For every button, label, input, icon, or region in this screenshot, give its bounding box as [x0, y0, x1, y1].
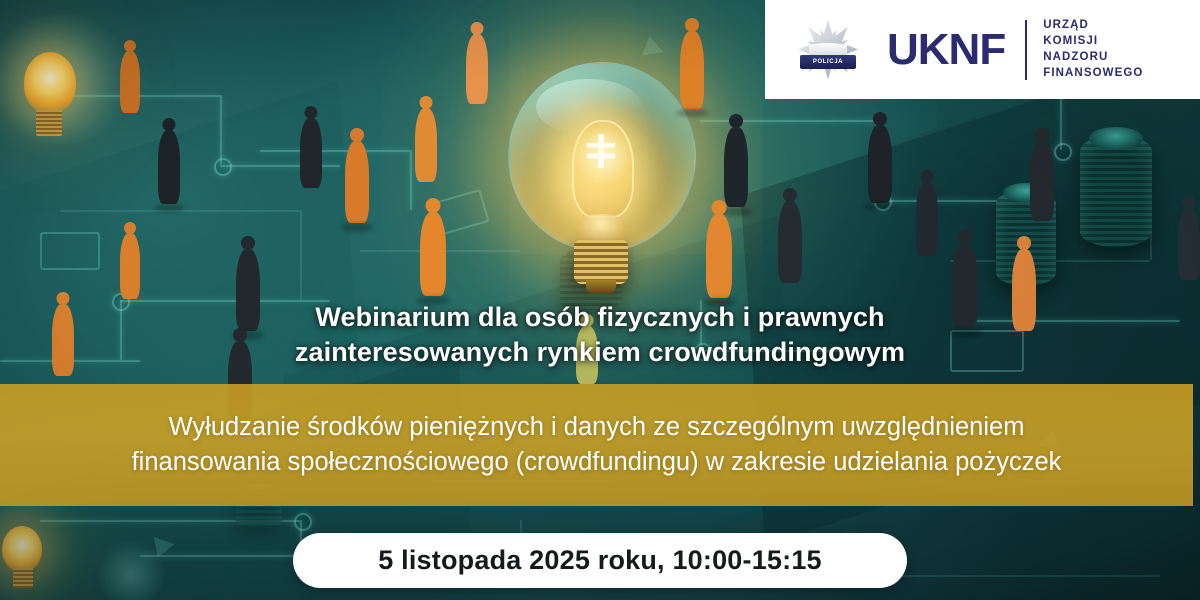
uknf-subtitle-line-4: FINANSOWEGO — [1043, 67, 1143, 80]
webinar-banner: POLICJA UKNF URZĄD KOMISJI NADZORU FINAN… — [0, 0, 1200, 600]
banner-title: Webinarium dla osób fizycznych i prawnyc… — [0, 300, 1200, 370]
uknf-subtitle-line-3: NADZORU — [1043, 51, 1143, 64]
banner-subtitle-line-1: Wyłudzanie środków pieniężnych i danych … — [16, 410, 1177, 445]
logo-divider — [1025, 20, 1027, 80]
uknf-subtitle-line-2: KOMISJI — [1043, 35, 1143, 48]
banner-title-line-2: zainteresowanych rynkiem crowdfundingowy… — [60, 335, 1140, 370]
banner-subtitle-line-2: finansowania społecznościowego (crowdfun… — [16, 445, 1177, 480]
uknf-subtitle-line-1: URZĄD — [1043, 19, 1143, 32]
date-pill: 5 listopada 2025 roku, 10:00-15:15 — [293, 533, 907, 588]
banner-subtitle: Wyłudzanie środków pieniężnych i danych … — [0, 410, 1193, 480]
banner-title-line-1: Webinarium dla osób fizycznych i prawnyc… — [60, 300, 1140, 335]
policja-badge-label: POLICJA — [813, 59, 843, 65]
uknf-wordmark: UKNF — [887, 28, 1005, 72]
subtitle-band: Wyłudzanie środków pieniężnych i danych … — [0, 384, 1193, 506]
uknf-subtitle: URZĄD KOMISJI NADZORU FINANSOWEGO — [1043, 19, 1143, 80]
date-text: 5 listopada 2025 roku, 10:00-15:15 — [378, 545, 822, 576]
logo-panel: POLICJA UKNF URZĄD KOMISJI NADZORU FINAN… — [765, 0, 1200, 99]
policja-badge-icon: POLICJA — [791, 13, 865, 87]
